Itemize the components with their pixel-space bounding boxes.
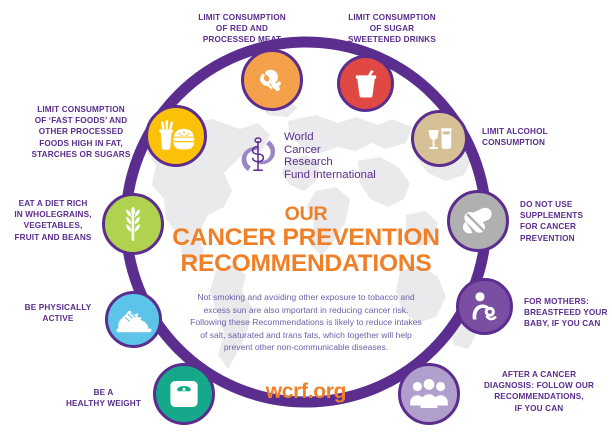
headline-line-2: CANCER PREVENTION [0, 225, 612, 251]
caduceus-swirl-icon [238, 134, 278, 178]
headline-line-3: RECOMMENDATIONS [0, 251, 612, 277]
node-red-processed-meat[interactable] [241, 49, 303, 111]
wcrf-logo: World Cancer Research Fund International [238, 131, 376, 181]
soft-drink-cup-icon [349, 67, 383, 101]
label-red-processed-meat: LIMIT CONSUMPTION OF RED AND PROCESSED M… [172, 12, 312, 46]
node-fast-foods[interactable] [145, 105, 207, 167]
cancer-prevention-infographic: LIMIT CONSUMPTION OF RED AND PROCESSED M… [0, 0, 612, 443]
wcrf-logo-text: World Cancer Research Fund International [284, 131, 376, 181]
label-breastfeed: FOR MOTHERS: BREASTFEED YOUR BABY, IF YO… [524, 296, 612, 330]
page-title: OUR CANCER PREVENTION RECOMMENDATIONS [0, 204, 612, 277]
label-physically-active: BE PHYSICALLY ACTIVE [14, 302, 102, 324]
wine-beer-glasses-icon [423, 122, 457, 156]
node-breastfeed[interactable] [456, 278, 513, 335]
node-sugar-sweetened-drinks[interactable] [337, 55, 394, 112]
node-alcohol[interactable] [411, 110, 468, 167]
label-alcohol: LIMIT ALCOHOL CONSUMPTION [482, 126, 607, 148]
intro-paragraph: Not smoking and avoiding other exposure … [171, 291, 441, 354]
ham-drumstick-icon [253, 61, 291, 99]
website-url[interactable]: wcrf.org [0, 380, 612, 404]
headline-line-1: OUR [0, 204, 612, 225]
node-physically-active[interactable] [105, 291, 162, 348]
label-fast-foods: LIMIT CONSUMPTION OF ‘FAST FOODS’ AND OT… [20, 104, 142, 160]
label-sugar-sweetened-drinks: LIMIT CONSUMPTION OF SUGAR SWEETENED DRI… [322, 12, 462, 46]
breastfeeding-mother-icon [467, 289, 503, 325]
fries-burger-icon [156, 119, 196, 153]
running-shoe-icon [115, 306, 153, 334]
